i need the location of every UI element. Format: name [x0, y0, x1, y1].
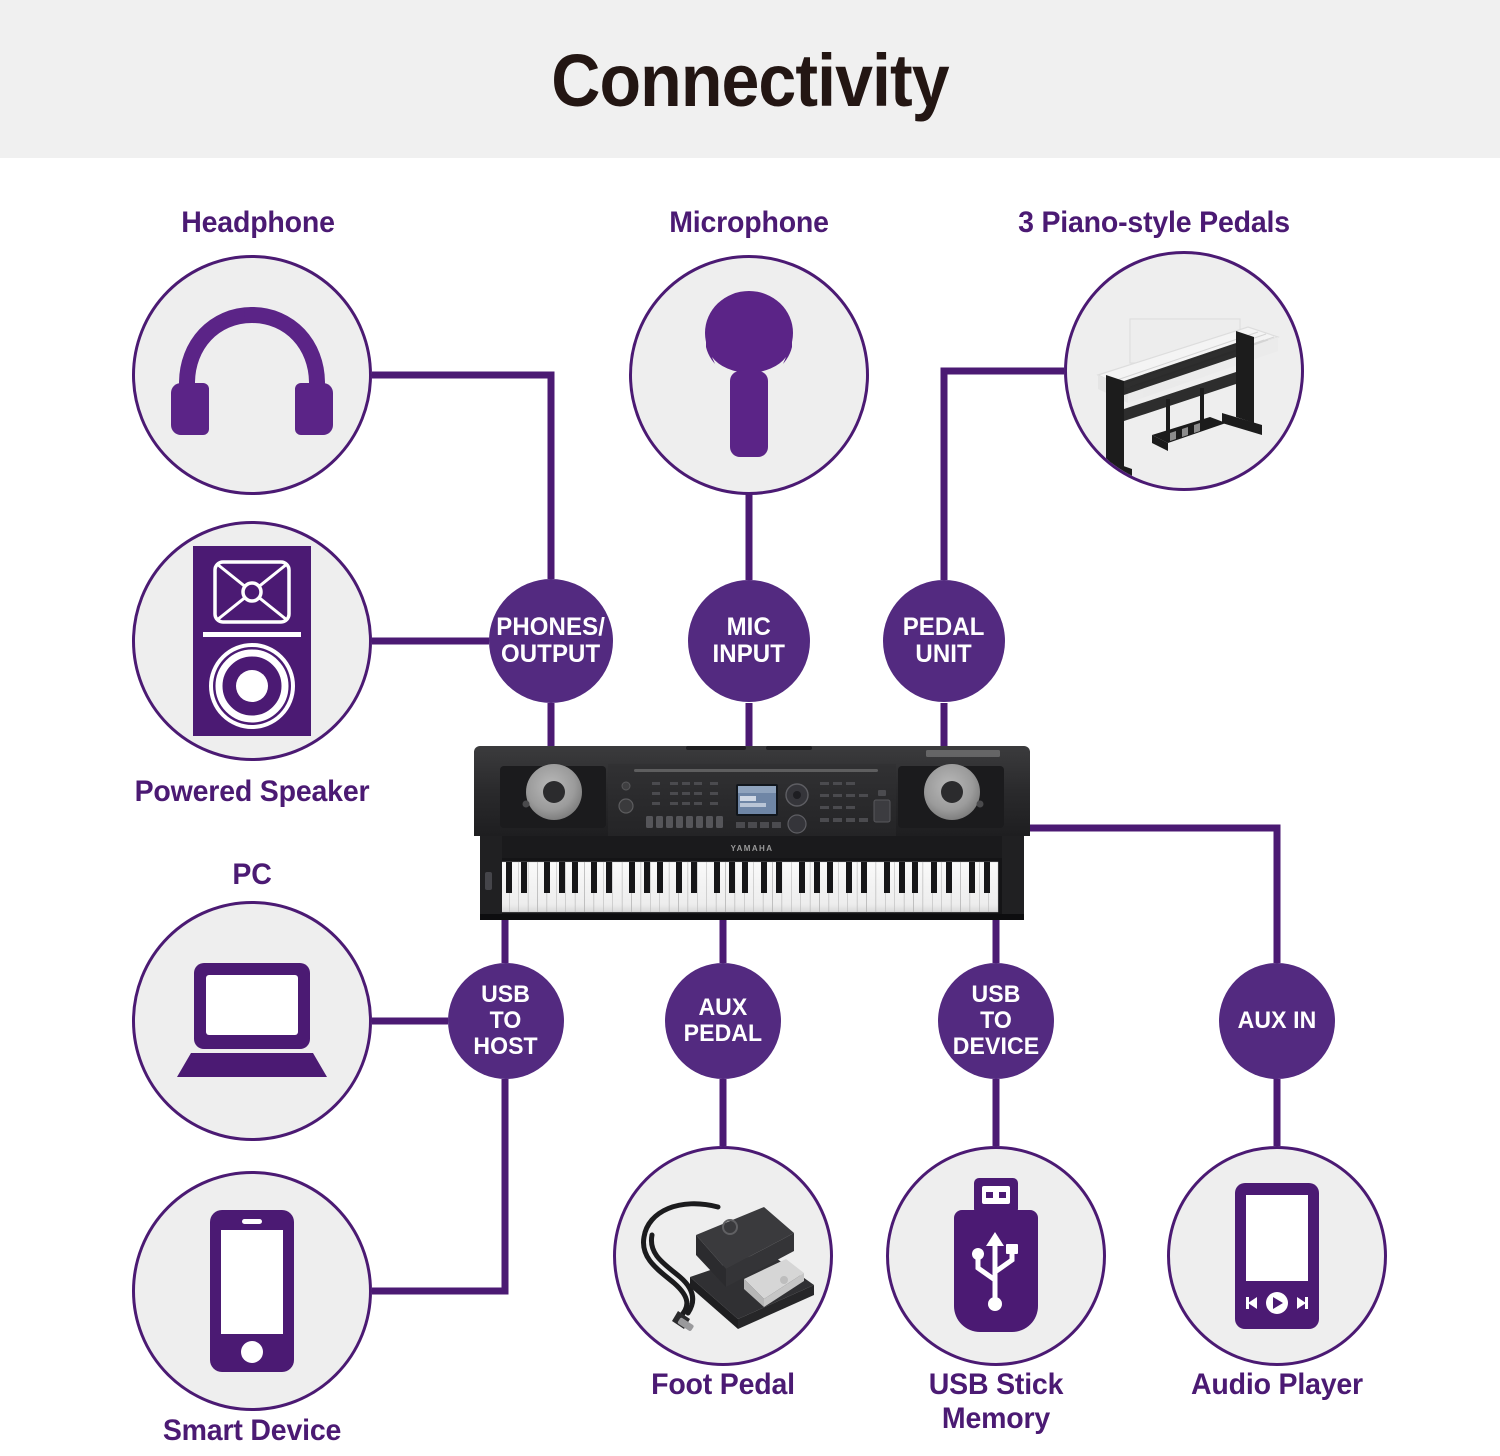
port-aux-pedal[interactable]: AUX PEDAL — [665, 963, 781, 1079]
port-label-phones-output: PHONES/ OUTPUT — [497, 614, 606, 668]
port-label-aux-in: AUX IN — [1238, 1008, 1317, 1034]
device-circle-usb-stick[interactable] — [886, 1146, 1106, 1366]
device-label-audio-player: Audio Player — [1154, 1368, 1401, 1402]
device-circle-smart-device[interactable] — [132, 1171, 372, 1411]
smartphone-icon — [204, 1208, 300, 1374]
device-circle-audio-player[interactable] — [1167, 1146, 1387, 1366]
digital-piano-image: YAMAHA — [474, 740, 1030, 922]
laptop-icon — [177, 959, 327, 1083]
device-label-usb-stick: USB Stick Memory — [882, 1368, 1110, 1435]
microphone-icon — [684, 285, 814, 465]
device-label-pc: PC — [157, 858, 347, 892]
port-label-aux-pedal: AUX PEDAL — [684, 995, 763, 1047]
device-circle-headphone[interactable] — [132, 255, 372, 495]
port-label-mic-input: MIC INPUT — [713, 614, 785, 668]
device-circle-microphone[interactable] — [629, 255, 869, 495]
device-circle-foot-pedal[interactable] — [613, 1146, 833, 1366]
speaker-icon — [193, 546, 311, 736]
port-aux-in[interactable]: AUX IN — [1219, 963, 1335, 1079]
port-label-pedal-unit: PEDAL UNIT — [903, 614, 985, 668]
audio-player-icon — [1231, 1181, 1323, 1331]
port-label-usb-to-host: USB TO HOST — [474, 982, 538, 1060]
connectivity-diagram: Connectivity — [0, 0, 1500, 1456]
pedal-unit-photo — [1070, 257, 1298, 485]
port-pedal-unit[interactable]: PEDAL UNIT — [883, 580, 1005, 702]
device-label-smart-device: Smart Device — [91, 1414, 414, 1448]
svg-text:YAMAHA: YAMAHA — [731, 844, 774, 853]
port-mic-input[interactable]: MIC INPUT — [688, 580, 810, 702]
port-label-usb-to-device: USB TO DEVICE — [953, 982, 1039, 1060]
foot-pedal-photo — [618, 1151, 828, 1361]
headphone-icon — [167, 305, 337, 445]
port-usb-to-device[interactable]: USB TO DEVICE — [938, 963, 1054, 1079]
port-phones-output[interactable]: PHONES/ OUTPUT — [489, 579, 613, 703]
device-label-microphone: Microphone — [597, 206, 901, 240]
usb-stick-icon — [948, 1176, 1044, 1336]
port-usb-to-host[interactable]: USB TO HOST — [448, 963, 564, 1079]
device-label-powered-speaker: Powered Speaker — [72, 775, 433, 809]
device-label-pedal-unit: 3 Piano-style Pedals — [955, 206, 1354, 240]
device-circle-pedal-unit[interactable] — [1064, 251, 1304, 491]
device-circle-pc[interactable] — [132, 901, 372, 1141]
device-circle-powered-speaker[interactable] — [132, 521, 372, 761]
device-label-headphone: Headphone — [97, 206, 420, 240]
device-label-foot-pedal: Foot Pedal — [609, 1368, 837, 1402]
